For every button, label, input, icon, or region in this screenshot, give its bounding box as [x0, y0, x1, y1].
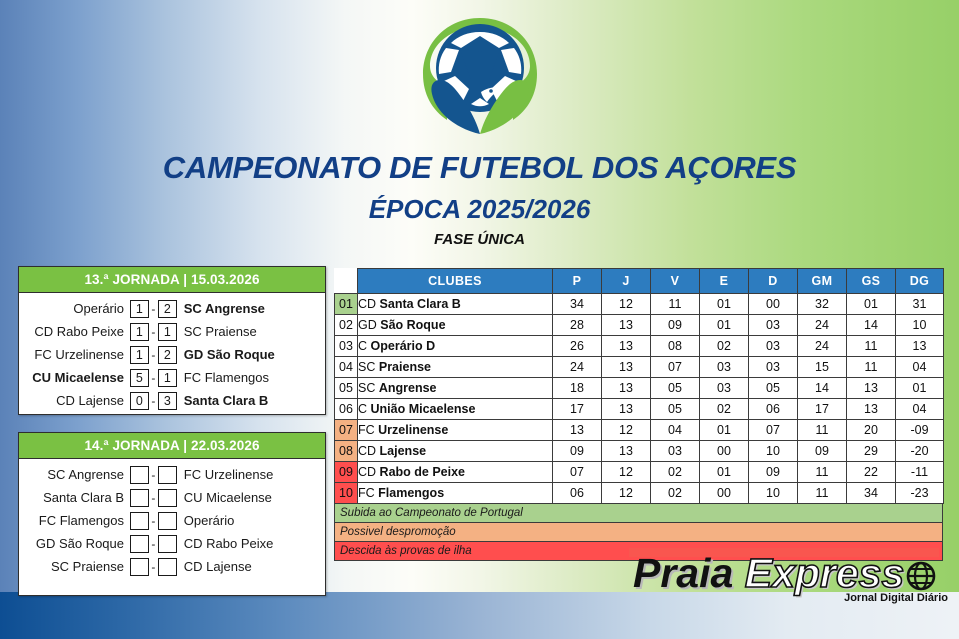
- standings-club-name: CD Rabo de Peixe: [358, 462, 553, 483]
- standings-rank: 06: [335, 399, 358, 420]
- fixture-row: CU Micaelense5-1FC Flamengos: [19, 366, 325, 389]
- table-row: 04SC Praiense2413070303151104: [335, 357, 944, 378]
- fixture-home-team: Operário: [19, 301, 130, 316]
- club-name: Angrense: [379, 381, 437, 395]
- club-name: União Micaelense: [371, 402, 476, 416]
- standings-cell-v: 05: [651, 378, 700, 399]
- brand-tagline: Jornal Digital Diário: [844, 592, 948, 604]
- fixture-away-team: SC Praiense: [177, 324, 325, 339]
- column-header-d: D: [749, 269, 798, 294]
- standings-cell-p: 17: [553, 399, 602, 420]
- standings-cell-d: 03: [749, 357, 798, 378]
- standings-cell-v: 04: [651, 420, 700, 441]
- club-prefix: CD: [358, 297, 376, 311]
- club-name: Flamengos: [378, 486, 444, 500]
- fixture-home-score: 5: [130, 369, 149, 387]
- fixture-away-team: SC Angrense: [177, 301, 325, 316]
- season-subtitle: ÉPOCA 2025/2026: [0, 194, 959, 225]
- standings-cell-d: 10: [749, 483, 798, 504]
- fixture-home-score: 1: [130, 300, 149, 318]
- standings-club-name: FC Urzelinense: [358, 420, 553, 441]
- standings-cell-gm: 32: [798, 294, 847, 315]
- column-header-e: E: [700, 269, 749, 294]
- fixture-home-team: CD Rabo Peixe: [19, 324, 130, 339]
- standings-cell-gm: 15: [798, 357, 847, 378]
- fixture-row: FC Flamengos-Operário: [19, 509, 325, 532]
- club-prefix: FC: [358, 486, 375, 500]
- standings-cell-gs: 14: [847, 315, 896, 336]
- club-prefix: C: [358, 339, 367, 353]
- fixture-row: GD São Roque-CD Rabo Peixe: [19, 532, 325, 555]
- legend-row-green: Subida ao Campeonato de Portugal: [334, 504, 943, 523]
- fixture-away-team: GD São Roque: [177, 347, 325, 362]
- fixtures-header-jornada-14: 14.ª JORNADA | 22.03.2026: [19, 433, 325, 459]
- phase-label: FASE ÚNICA: [0, 231, 959, 248]
- club-name: Operário D: [371, 339, 436, 353]
- fixture-home-team: SC Angrense: [19, 467, 130, 482]
- fixture-home-score: 1: [130, 346, 149, 364]
- fixture-score-separator: -: [149, 468, 158, 482]
- azores-football-federation-logo: [399, 12, 561, 140]
- standings-cell-p: 09: [553, 441, 602, 462]
- standings-rank: 08: [335, 441, 358, 462]
- legend-row-orange: Possivel despromoção: [334, 523, 943, 542]
- fixture-score-separator: -: [149, 537, 158, 551]
- standings-rank: 07: [335, 420, 358, 441]
- fixture-row: CD Rabo Peixe1-1SC Praiense: [19, 320, 325, 343]
- standings-rank: 09: [335, 462, 358, 483]
- club-prefix: FC: [358, 423, 375, 437]
- standings-rank: 03: [335, 336, 358, 357]
- standings-cell-d: 05: [749, 378, 798, 399]
- standings-club-name: CD Lajense: [358, 441, 553, 462]
- standings-cell-v: 02: [651, 483, 700, 504]
- fixture-away-team: CD Lajense: [177, 559, 325, 574]
- standings-cell-e: 03: [700, 357, 749, 378]
- standings-cell-gs: 01: [847, 294, 896, 315]
- fixture-away-score: 1: [158, 369, 177, 387]
- fixture-home-score: [130, 558, 149, 576]
- fixtures-list-jornada-13: Operário1-2SC AngrenseCD Rabo Peixe1-1SC…: [19, 293, 325, 414]
- standings-cell-gm: 24: [798, 336, 847, 357]
- column-header-dg: DG: [896, 269, 944, 294]
- club-name: São Roque: [380, 318, 445, 332]
- standings-cell-e: 03: [700, 378, 749, 399]
- fixture-away-score: 3: [158, 392, 177, 410]
- column-header-clubes: CLUBES: [358, 269, 553, 294]
- fixture-home-team: CU Micaelense: [19, 370, 130, 385]
- standings-cell-dg: -11: [896, 462, 944, 483]
- standings-cell-p: 26: [553, 336, 602, 357]
- fixture-away-team: FC Flamengos: [177, 370, 325, 385]
- praia-expresso-logo: Praia Express Jornal Digital Diário: [629, 548, 952, 603]
- standings-cell-j: 12: [602, 294, 651, 315]
- standings-cell-j: 12: [602, 462, 651, 483]
- fixtures-list-jornada-14: SC Angrense-FC UrzelinenseSanta Clara B-…: [19, 459, 325, 580]
- standings-cell-e: 01: [700, 420, 749, 441]
- standings-cell-gs: 13: [847, 378, 896, 399]
- fixture-home-team: FC Flamengos: [19, 513, 130, 528]
- standings-cell-d: 07: [749, 420, 798, 441]
- standings-cell-dg: 13: [896, 336, 944, 357]
- standings-cell-j: 13: [602, 399, 651, 420]
- fixture-away-team: CU Micaelense: [177, 490, 325, 505]
- table-row: 09CD Rabo de Peixe07120201091122-11: [335, 462, 944, 483]
- standings-cell-d: 03: [749, 336, 798, 357]
- fixture-home-score: 0: [130, 392, 149, 410]
- fixtures-panel-jornada-13: 13.ª JORNADA | 15.03.2026 Operário1-2SC …: [18, 266, 326, 415]
- club-prefix: SC: [358, 381, 375, 395]
- standings-cell-v: 09: [651, 315, 700, 336]
- table-row: 06C União Micaelense1713050206171304: [335, 399, 944, 420]
- standings-club-name: GD São Roque: [358, 315, 553, 336]
- standings-cell-v: 11: [651, 294, 700, 315]
- fixture-score-separator: -: [149, 514, 158, 528]
- standings-rank: 02: [335, 315, 358, 336]
- standings-cell-dg: 04: [896, 357, 944, 378]
- fixture-row: CD Lajense0-3Santa Clara B: [19, 389, 325, 412]
- standings-cell-e: 02: [700, 399, 749, 420]
- standings-cell-gs: 11: [847, 357, 896, 378]
- standings-cell-p: 34: [553, 294, 602, 315]
- standings-cell-p: 07: [553, 462, 602, 483]
- standings-cell-dg: 01: [896, 378, 944, 399]
- fixture-away-score: [158, 558, 177, 576]
- fixture-home-team: CD Lajense: [19, 393, 130, 408]
- column-header-v: V: [651, 269, 700, 294]
- globe-icon: [906, 561, 936, 596]
- standings-cell-dg: 31: [896, 294, 944, 315]
- brand-wordmark: Praia Express: [633, 553, 904, 594]
- fixture-score-separator: -: [149, 325, 158, 339]
- fixture-away-score: [158, 535, 177, 553]
- standings-table: CLUBES P J V E D GM GS DG 01CD Santa Cla…: [334, 268, 944, 504]
- fixture-row: SC Angrense-FC Urzelinense: [19, 463, 325, 486]
- column-header-gs: GS: [847, 269, 896, 294]
- fixture-home-team: SC Praiense: [19, 559, 130, 574]
- standings-cell-e: 01: [700, 462, 749, 483]
- standings-cell-j: 13: [602, 441, 651, 462]
- fixture-home-score: [130, 466, 149, 484]
- fixture-home-team: GD São Roque: [19, 536, 130, 551]
- fixture-away-score: [158, 512, 177, 530]
- fixture-home-score: [130, 535, 149, 553]
- standings-cell-e: 00: [700, 483, 749, 504]
- club-name: Praiense: [379, 360, 431, 374]
- standings-club-name: SC Angrense: [358, 378, 553, 399]
- club-name: Rabo de Peixe: [380, 465, 465, 479]
- standings-cell-dg: -20: [896, 441, 944, 462]
- standings-cell-d: 06: [749, 399, 798, 420]
- standings-cell-p: 24: [553, 357, 602, 378]
- standings-cell-v: 07: [651, 357, 700, 378]
- fixture-row: Operário1-2SC Angrense: [19, 297, 325, 320]
- standings-cell-v: 03: [651, 441, 700, 462]
- standings-cell-j: 13: [602, 315, 651, 336]
- fixture-home-team: FC Urzelinense: [19, 347, 130, 362]
- standings-cell-d: 00: [749, 294, 798, 315]
- table-row: 08CD Lajense09130300100929-20: [335, 441, 944, 462]
- standings-cell-j: 13: [602, 357, 651, 378]
- standings-cell-e: 01: [700, 294, 749, 315]
- standings-club-name: CD Santa Clara B: [358, 294, 553, 315]
- standings-club-name: C União Micaelense: [358, 399, 553, 420]
- standings-club-name: C Operário D: [358, 336, 553, 357]
- standings-cell-dg: -23: [896, 483, 944, 504]
- fixture-away-score: 2: [158, 300, 177, 318]
- fixture-home-score: 1: [130, 323, 149, 341]
- table-row: 10FC Flamengos06120200101134-23: [335, 483, 944, 504]
- standings-cell-p: 06: [553, 483, 602, 504]
- standings-cell-gm: 11: [798, 462, 847, 483]
- fixture-away-team: Operário: [177, 513, 325, 528]
- fixture-score-separator: -: [149, 348, 158, 362]
- table-row: 07FC Urzelinense13120401071120-09: [335, 420, 944, 441]
- brand-praia: Praia: [633, 550, 733, 596]
- fixture-score-separator: -: [149, 560, 158, 574]
- club-name: Santa Clara B: [380, 297, 461, 311]
- standings-cell-d: 03: [749, 315, 798, 336]
- standings-header-row: CLUBES P J V E D GM GS DG: [335, 269, 944, 294]
- table-row: 03C Operário D2613080203241113: [335, 336, 944, 357]
- club-prefix: CD: [358, 444, 376, 458]
- club-name: Urzelinense: [378, 423, 448, 437]
- standings-table-wrapper: CLUBES P J V E D GM GS DG 01CD Santa Cla…: [334, 268, 943, 561]
- standings-cell-v: 08: [651, 336, 700, 357]
- fixture-away-score: [158, 489, 177, 507]
- standings-cell-gs: 13: [847, 399, 896, 420]
- fixtures-panel-jornada-14: 14.ª JORNADA | 22.03.2026 SC Angrense-FC…: [18, 432, 326, 596]
- fixture-away-score: 2: [158, 346, 177, 364]
- standings-cell-d: 10: [749, 441, 798, 462]
- club-prefix: SC: [358, 360, 375, 374]
- table-row: 01CD Santa Clara B3412110100320131: [335, 294, 944, 315]
- standings-cell-gm: 14: [798, 378, 847, 399]
- standings-rank: 04: [335, 357, 358, 378]
- fixture-away-team: Santa Clara B: [177, 393, 325, 408]
- fixture-away-score: [158, 466, 177, 484]
- page-title: CAMPEONATO DE FUTEBOL DOS AÇORES: [0, 150, 959, 186]
- standings-cell-v: 02: [651, 462, 700, 483]
- standings-cell-e: 02: [700, 336, 749, 357]
- standings-cell-gs: 22: [847, 462, 896, 483]
- standings-cell-p: 18: [553, 378, 602, 399]
- fixtures-header-jornada-13: 13.ª JORNADA | 15.03.2026: [19, 267, 325, 293]
- standings-cell-p: 13: [553, 420, 602, 441]
- standings-cell-d: 09: [749, 462, 798, 483]
- standings-cell-e: 01: [700, 315, 749, 336]
- fixture-score-separator: -: [149, 394, 158, 408]
- standings-cell-gs: 11: [847, 336, 896, 357]
- fixture-row: SC Praiense-CD Lajense: [19, 555, 325, 578]
- standings-cell-j: 12: [602, 483, 651, 504]
- fixture-away-team: FC Urzelinense: [177, 467, 325, 482]
- standings-rank: 10: [335, 483, 358, 504]
- column-header-gm: GM: [798, 269, 847, 294]
- fixture-home-score: [130, 512, 149, 530]
- header-rank-spacer: [335, 269, 358, 294]
- club-name: Lajense: [380, 444, 427, 458]
- table-row: 02GD São Roque2813090103241410: [335, 315, 944, 336]
- standings-rank: 01: [335, 294, 358, 315]
- fixture-home-score: [130, 489, 149, 507]
- poster-root: CAMPEONATO DE FUTEBOL DOS AÇORES ÉPOCA 2…: [0, 0, 959, 639]
- standings-cell-gm: 11: [798, 420, 847, 441]
- brand-expresso: Express: [745, 550, 905, 596]
- standings-cell-gs: 20: [847, 420, 896, 441]
- standings-cell-gm: 09: [798, 441, 847, 462]
- standings-cell-p: 28: [553, 315, 602, 336]
- fixture-away-score: 1: [158, 323, 177, 341]
- club-prefix: C: [358, 402, 367, 416]
- standings-club-name: SC Praiense: [358, 357, 553, 378]
- standings-cell-gm: 24: [798, 315, 847, 336]
- fixture-score-separator: -: [149, 302, 158, 316]
- standings-cell-dg: -09: [896, 420, 944, 441]
- standings-cell-gm: 11: [798, 483, 847, 504]
- standings-cell-v: 05: [651, 399, 700, 420]
- fixture-row: FC Urzelinense1-2GD São Roque: [19, 343, 325, 366]
- standings-cell-e: 00: [700, 441, 749, 462]
- fixture-score-separator: -: [149, 371, 158, 385]
- standings-cell-j: 12: [602, 420, 651, 441]
- fixture-home-team: Santa Clara B: [19, 490, 130, 505]
- standings-cell-dg: 10: [896, 315, 944, 336]
- fixture-row: Santa Clara B-CU Micaelense: [19, 486, 325, 509]
- standings-cell-gm: 17: [798, 399, 847, 420]
- standings-cell-j: 13: [602, 336, 651, 357]
- column-header-p: P: [553, 269, 602, 294]
- fixture-score-separator: -: [149, 491, 158, 505]
- standings-cell-gs: 34: [847, 483, 896, 504]
- standings-cell-dg: 04: [896, 399, 944, 420]
- column-header-j: J: [602, 269, 651, 294]
- club-prefix: GD: [358, 318, 377, 332]
- fixture-away-team: CD Rabo Peixe: [177, 536, 325, 551]
- standings-club-name: FC Flamengos: [358, 483, 553, 504]
- standings-body: 01CD Santa Clara B341211010032013102GD S…: [335, 294, 944, 504]
- standings-cell-gs: 29: [847, 441, 896, 462]
- table-row: 05SC Angrense1813050305141301: [335, 378, 944, 399]
- standings-rank: 05: [335, 378, 358, 399]
- standings-cell-j: 13: [602, 378, 651, 399]
- club-prefix: CD: [358, 465, 376, 479]
